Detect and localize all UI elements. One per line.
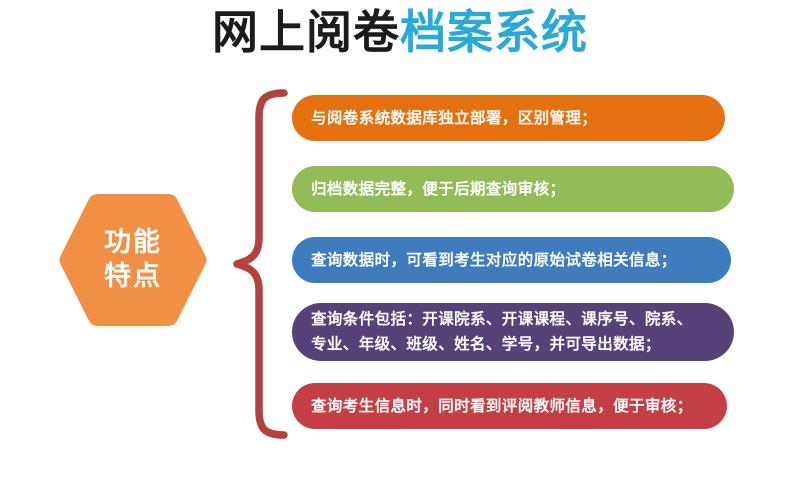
page-title-primary: 网上阅卷: [212, 5, 400, 59]
feature-item-1-label: 与阅卷系统数据库独立部署，区别管理；: [311, 107, 597, 130]
feature-item-3[interactable]: 查询数据时，可看到考生对应的原始试卷相关信息；: [292, 237, 731, 283]
feature-item-4[interactable]: 查询条件包括：开课院系、开课课程、课序号、院系、 专业、年级、班级、姓名、学号，…: [292, 303, 734, 361]
feature-hexagon: 功能 特点: [58, 192, 208, 328]
feature-item-2[interactable]: 归档数据完整，便于后期查询审核；: [292, 166, 734, 212]
page-title-accent: 档案系统: [400, 5, 588, 59]
feature-item-4-label: 查询条件包括：开课院系、开课课程、课序号、院系、 专业、年级、班级、姓名、学号，…: [311, 307, 693, 357]
feature-item-5-label: 查询考生信息时，同时看到评阅教师信息，便于审核；: [311, 395, 693, 418]
hexagon-label: 功能 特点: [58, 192, 208, 328]
feature-item-5[interactable]: 查询考生信息时，同时看到评阅教师信息，便于审核；: [292, 383, 727, 429]
hexagon-label-line2: 特点: [104, 260, 162, 294]
page-title: 网上阅卷档案系统: [0, 4, 800, 60]
feature-item-3-label: 查询数据时，可看到考生对应的原始试卷相关信息；: [311, 249, 677, 272]
feature-item-1[interactable]: 与阅卷系统数据库独立部署，区别管理；: [292, 95, 725, 141]
feature-item-2-label: 归档数据完整，便于后期查询审核；: [311, 178, 565, 201]
hexagon-label-line1: 功能: [104, 226, 162, 260]
curly-brace-icon: [212, 88, 290, 440]
